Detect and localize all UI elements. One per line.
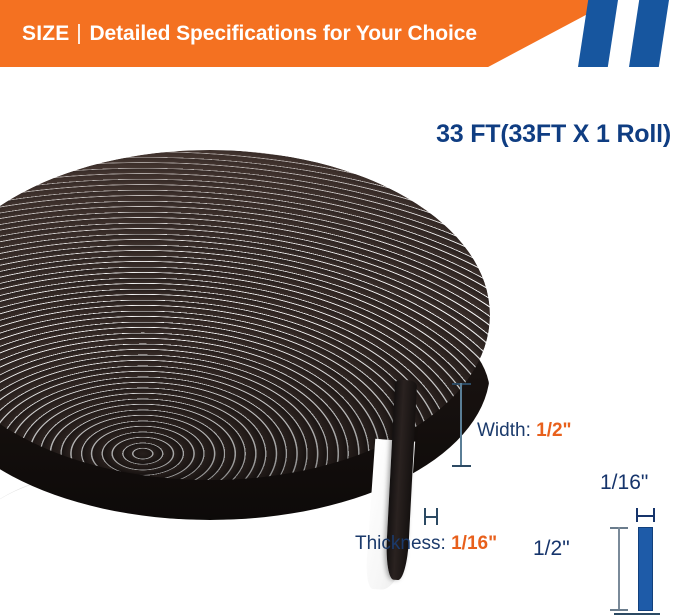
banner-title: Detailed Specifications for Your Choice bbox=[89, 23, 476, 44]
width-label-text: Width: bbox=[477, 420, 536, 441]
cs-height-cap-bottom bbox=[610, 609, 628, 611]
banner-text-group: SIZE Detailed Specifications for Your Ch… bbox=[22, 0, 477, 67]
header-banner: SIZE Detailed Specifications for Your Ch… bbox=[0, 0, 679, 67]
width-dimension-cap-bottom bbox=[452, 465, 471, 467]
banner-divider bbox=[78, 24, 80, 44]
cross-section-width-label: 1/2" bbox=[533, 538, 570, 559]
cs-height-dimension-line bbox=[618, 527, 620, 611]
cross-section-bar bbox=[638, 527, 653, 611]
product-photo-foam-roll bbox=[0, 140, 490, 580]
cross-section-thickness-label: 1/16" bbox=[600, 472, 648, 493]
cross-section-diagram: 1/16" 1/2" bbox=[528, 472, 679, 616]
thickness-marker-cap-right bbox=[436, 508, 438, 525]
thickness-label-text: Thickness: bbox=[355, 533, 451, 554]
width-label-value: 1/2" bbox=[536, 420, 571, 441]
width-dimension-label: Width: 1/2" bbox=[477, 421, 572, 440]
cross-section-baseline bbox=[614, 613, 660, 615]
banner-size-label: SIZE bbox=[22, 23, 69, 44]
banner-blue-stripe-2 bbox=[629, 0, 669, 67]
thickness-dimension-label: Thickness: 1/16" bbox=[355, 534, 497, 553]
width-dimension-line bbox=[460, 383, 462, 467]
thickness-dimension-marker bbox=[424, 508, 438, 525]
cross-section-thickness-marker bbox=[636, 508, 655, 522]
cs-marker-cap-right bbox=[653, 508, 655, 522]
thickness-label-value: 1/16" bbox=[451, 533, 497, 554]
spec-image-canvas: SIZE Detailed Specifications for Your Ch… bbox=[0, 0, 679, 616]
